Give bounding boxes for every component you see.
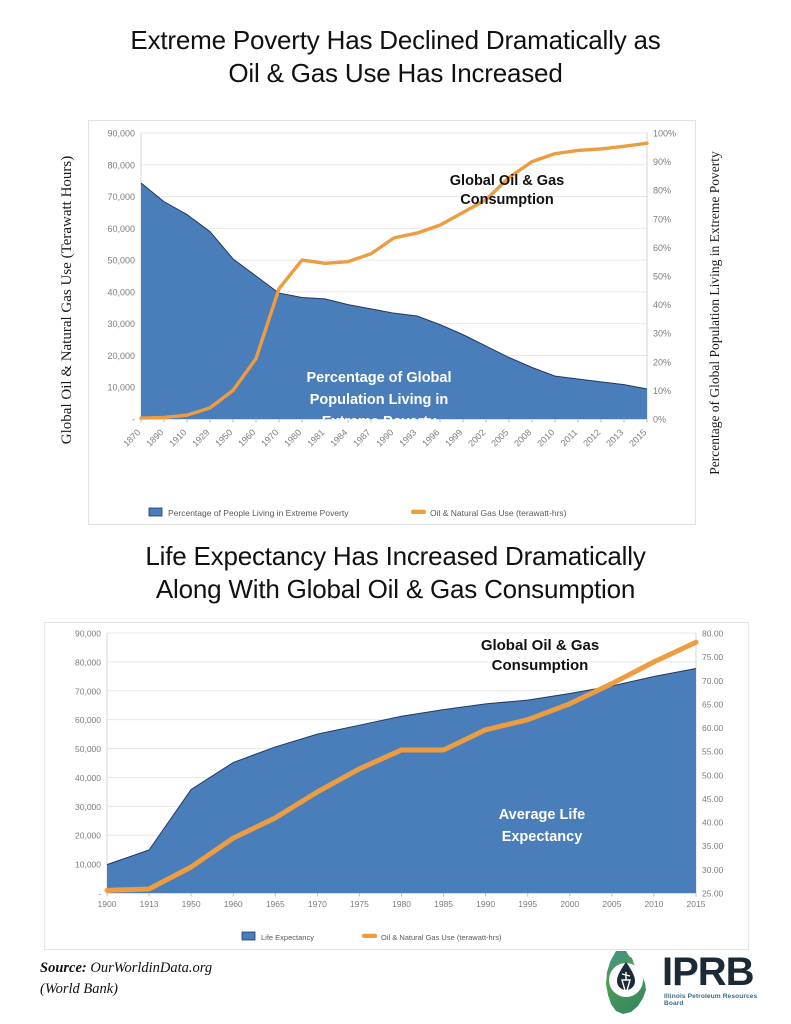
chart1-y2-axis-title-text: Percentage of Global Population Living i… <box>707 151 722 475</box>
logo-subtitle: Illinois Petroleum Resources Board <box>664 993 772 1007</box>
x-axis-tick-label: 1990 <box>476 899 495 909</box>
svg-text:50.00: 50.00 <box>702 770 724 780</box>
svg-text:80%: 80% <box>653 186 671 196</box>
source-note: Source: OurWorldinData.org (World Bank) <box>40 958 370 1000</box>
x-axis-tick-label: 1970 <box>259 427 280 448</box>
svg-text:65.00: 65.00 <box>702 699 724 709</box>
svg-text:75.00: 75.00 <box>702 652 724 662</box>
x-axis-tick-label: 1900 <box>98 899 117 909</box>
chart-annotation: Consumption <box>460 192 553 208</box>
svg-text:20,000: 20,000 <box>107 351 135 361</box>
source-value: OurWorldinData.org <box>90 960 212 976</box>
x-axis-tick-label: 2005 <box>602 899 621 909</box>
svg-text:90,000: 90,000 <box>75 629 101 639</box>
svg-text:35.00: 35.00 <box>702 841 724 851</box>
illinois-state-shape-icon <box>596 950 658 1016</box>
x-axis-tick-label: 1980 <box>282 427 303 448</box>
svg-text:30.00: 30.00 <box>702 865 724 875</box>
chart1-y2-axis-title: Percentage of Global Population Living i… <box>700 118 730 508</box>
x-axis-tick-label: 1970 <box>308 899 327 909</box>
svg-text:70.00: 70.00 <box>702 676 724 686</box>
chart-annotation: Expectancy <box>502 829 583 845</box>
svg-text:70,000: 70,000 <box>75 686 101 696</box>
x-axis-tick-label: 1929 <box>190 427 211 448</box>
x-axis-tick-label: 2015 <box>627 427 648 448</box>
svg-text:60.00: 60.00 <box>702 723 724 733</box>
svg-text:40%: 40% <box>653 300 671 310</box>
chart1-svg: -10,00020,00030,00040,00050,00060,00070,… <box>89 121 695 524</box>
svg-text:55.00: 55.00 <box>702 747 724 757</box>
x-axis-tick-label: 1993 <box>397 427 418 448</box>
svg-text:30%: 30% <box>653 329 671 339</box>
x-axis-tick-label: 2008 <box>512 427 533 448</box>
poster-page: Extreme Poverty Has Declined Dramaticall… <box>0 0 791 1024</box>
chart2-svg: -10,00020,00030,00040,00050,00060,00070,… <box>45 623 748 949</box>
chart1-y-axis-title-text: Global Oil & Natural Gas Use (Terawatt H… <box>59 156 75 444</box>
svg-text:80,000: 80,000 <box>107 160 135 170</box>
svg-text:30,000: 30,000 <box>75 802 101 812</box>
x-axis-tick-label: 2010 <box>644 899 663 909</box>
x-axis-tick-label: 1995 <box>518 899 537 909</box>
x-axis-tick-label: 2011 <box>559 427 580 448</box>
chart-annotation: Consumption <box>492 657 589 674</box>
x-axis-tick-label: 2012 <box>581 427 602 448</box>
x-axis-tick-label: 1984 <box>328 427 349 448</box>
svg-text:90,000: 90,000 <box>107 129 135 139</box>
x-axis-tick-label: 1870 <box>121 427 142 448</box>
svg-text:Percentage of People Living in: Percentage of People Living in Extreme P… <box>168 508 349 518</box>
x-axis-tick-label: 2000 <box>560 899 579 909</box>
chart2-container: -10,00020,00030,00040,00050,00060,00070,… <box>44 622 749 950</box>
chart-annotation: Population Living in <box>310 392 449 408</box>
svg-text:25.00: 25.00 <box>702 889 724 899</box>
x-axis-tick-label: 1980 <box>392 899 411 909</box>
svg-text:50,000: 50,000 <box>75 744 101 754</box>
x-axis-tick-label: 1987 <box>351 427 372 448</box>
figure1-title-line2: Oil & Gas Use Has Increased <box>30 57 761 90</box>
chart1-container: -10,00020,00030,00040,00050,00060,00070,… <box>88 120 696 525</box>
x-axis-tick-label: 2010 <box>535 427 556 448</box>
svg-text:10,000: 10,000 <box>75 860 101 870</box>
chart-annotation: Extreme Poverty <box>322 414 436 430</box>
svg-text:70%: 70% <box>653 214 671 224</box>
x-axis-tick-label: 1999 <box>443 427 464 448</box>
chart-annotation: Percentage of Global <box>306 370 451 386</box>
svg-text:45.00: 45.00 <box>702 794 724 804</box>
svg-text:70,000: 70,000 <box>107 192 135 202</box>
iprb-logo: IPRB Illinois Petroleum Resources Board <box>596 948 772 1016</box>
figure2-title-line2: Along With Global Oil & Gas Consumption <box>30 573 761 606</box>
x-axis-tick-label: 1960 <box>236 427 257 448</box>
figure2-title: Life Expectancy Has Increased Dramatical… <box>30 540 761 605</box>
svg-text:50%: 50% <box>653 272 671 282</box>
svg-text:10%: 10% <box>653 386 671 396</box>
chart-annotation: Global Oil & Gas <box>481 637 599 654</box>
source-label: Source: <box>40 960 87 976</box>
x-axis-tick-label: 1960 <box>224 899 243 909</box>
x-axis-tick-label: 2005 <box>489 427 510 448</box>
chart-legend: Life ExpectancyOil & Natural Gas Use (te… <box>242 932 502 942</box>
chart-annotation: Global Oil & Gas <box>450 173 564 189</box>
chart-annotation: Average Life <box>499 807 586 823</box>
svg-text:40.00: 40.00 <box>702 818 724 828</box>
svg-text:20,000: 20,000 <box>75 831 101 841</box>
figure2-title-line1: Life Expectancy Has Increased Dramatical… <box>30 540 761 573</box>
x-axis-tick-label: 1985 <box>434 899 453 909</box>
svg-text:60,000: 60,000 <box>107 224 135 234</box>
x-axis-tick-label: 1910 <box>167 427 188 448</box>
svg-text:10,000: 10,000 <box>107 383 135 393</box>
source-line2: (World Bank) <box>40 979 370 1000</box>
x-axis-tick-label: 1996 <box>420 427 441 448</box>
svg-text:-: - <box>98 889 101 899</box>
x-axis-tick-label: 1975 <box>350 899 369 909</box>
x-axis-tick-label: 2013 <box>604 427 625 448</box>
x-axis-tick-label: 1950 <box>213 427 234 448</box>
chart1-y-axis-title: Global Oil & Natural Gas Use (Terawatt H… <box>52 120 82 480</box>
svg-text:80.00: 80.00 <box>702 629 724 639</box>
x-axis-tick-label: 1913 <box>140 899 159 909</box>
svg-text:40,000: 40,000 <box>107 287 135 297</box>
x-axis-tick-label: 2002 <box>466 427 487 448</box>
x-axis-tick-label: 2015 <box>687 899 706 909</box>
svg-text:90%: 90% <box>653 157 671 167</box>
x-axis-tick-label: 1890 <box>144 427 165 448</box>
svg-text:80,000: 80,000 <box>75 657 101 667</box>
x-axis-tick-label: 1965 <box>266 899 285 909</box>
figure1-title-line1: Extreme Poverty Has Declined Dramaticall… <box>30 24 761 57</box>
x-axis-tick-label: 1981 <box>305 427 326 448</box>
svg-text:20%: 20% <box>653 357 671 367</box>
svg-text:60,000: 60,000 <box>75 715 101 725</box>
x-axis-tick-label: 1990 <box>374 427 395 448</box>
svg-text:40,000: 40,000 <box>75 773 101 783</box>
svg-text:0%: 0% <box>653 415 666 425</box>
figure1-title: Extreme Poverty Has Declined Dramaticall… <box>30 24 761 89</box>
svg-text:30,000: 30,000 <box>107 319 135 329</box>
svg-text:Oil & Natural Gas Use (terawat: Oil & Natural Gas Use (terawatt-hrs) <box>381 933 502 942</box>
x-axis-tick-label: 1950 <box>182 899 201 909</box>
svg-text:50,000: 50,000 <box>107 256 135 266</box>
logo-wordmark: IPRB <box>662 952 754 992</box>
svg-text:100%: 100% <box>653 129 676 139</box>
chart-legend: Percentage of People Living in Extreme P… <box>149 508 567 518</box>
svg-text:Life Expectancy: Life Expectancy <box>261 933 314 942</box>
svg-text:-: - <box>132 415 135 425</box>
svg-text:Oil & Natural Gas Use (terawat: Oil & Natural Gas Use (terawatt-hrs) <box>430 508 567 518</box>
svg-text:60%: 60% <box>653 243 671 253</box>
